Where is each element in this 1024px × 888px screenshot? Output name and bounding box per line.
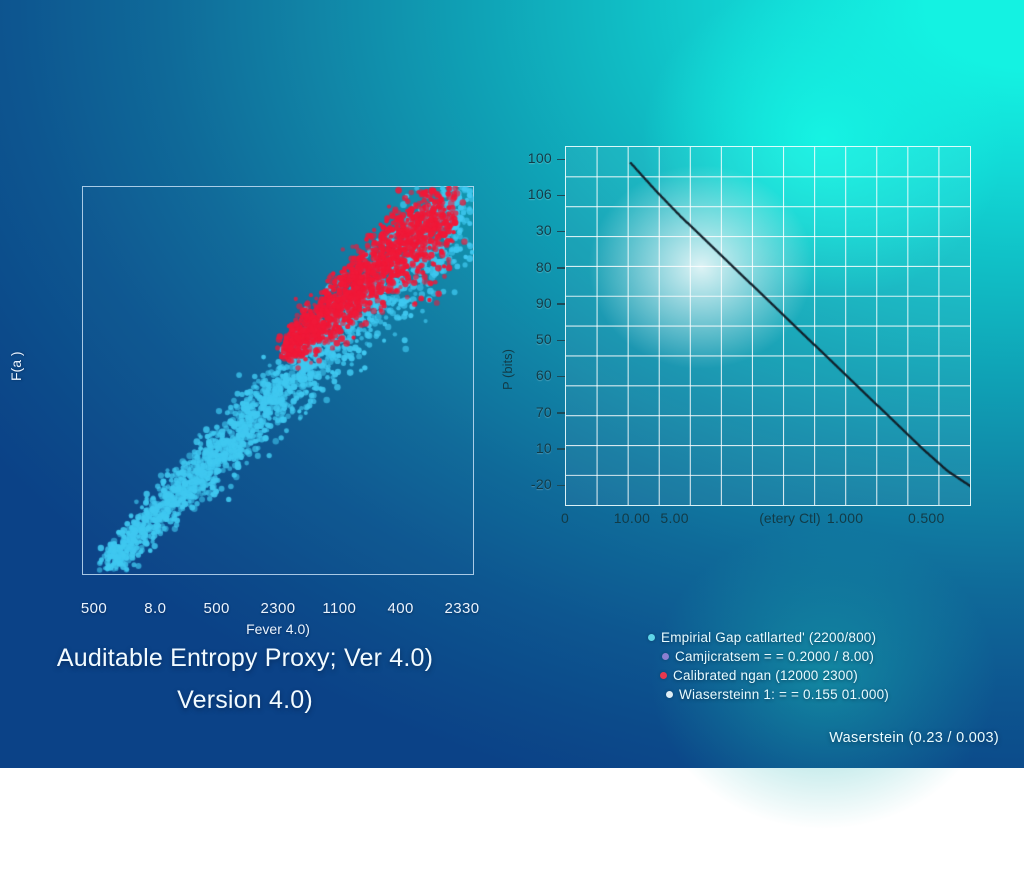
- left-x-tick-label: 500: [81, 600, 107, 617]
- legend-item[interactable]: Calibrated ngan (12000 2300): [660, 668, 889, 683]
- right-y-tick-label: 50: [536, 331, 565, 347]
- right-y-tick-label: 100: [528, 150, 565, 166]
- legend-item-label: Camjicratsem = = 0.2000 / 8.00): [675, 649, 874, 664]
- right-x-tick-label: 0: [561, 510, 569, 526]
- legend-marker-dot: [666, 691, 673, 698]
- left-y-axis-label: F(a ): [8, 351, 24, 381]
- left-x-tick-label: 1100: [322, 600, 356, 617]
- right-y-tick-label: 80: [536, 259, 565, 275]
- right-y-axis-label: P (bits): [500, 349, 515, 390]
- right-x-tick-label: 10.00: [614, 510, 651, 526]
- scatter-plot-canvas: [82, 186, 474, 575]
- left-x-tick-label: 8.0: [144, 600, 166, 617]
- legend: Empirial Gap catllarted' (2200/800)Camji…: [648, 630, 889, 706]
- legend-marker-dot: [648, 634, 655, 641]
- chart-title-main: Auditable Entropy Proxy; Ver 4.0): [45, 644, 445, 673]
- legend-item[interactable]: Camjicratsem = = 0.2000 / 8.00): [662, 649, 889, 664]
- legend-item-label: Empirial Gap catllarted' (2200/800): [661, 630, 876, 645]
- legend-item[interactable]: Empirial Gap catllarted' (2200/800): [648, 630, 889, 645]
- right-y-tick-label: 60: [536, 367, 565, 383]
- right-y-tick-label: 10: [536, 440, 565, 456]
- right-x-tick-label: 1.000: [827, 510, 864, 526]
- footer-metric: Waserstein (0.23 / 0.003): [829, 730, 999, 746]
- right-x-tick-label: 0.500: [908, 510, 945, 526]
- legend-marker-dot: [660, 672, 667, 679]
- right-curve-canvas: [566, 147, 971, 506]
- legend-item-label: Wiasersteinn 1: = = 0.155 01.000): [679, 687, 889, 702]
- legend-item-label: Calibrated ngan (12000 2300): [673, 668, 858, 683]
- right-y-tick-label: 70: [536, 404, 565, 420]
- left-x-tick-label: 2330: [445, 600, 480, 617]
- chart-title-sub: Version 4.0): [45, 686, 445, 715]
- right-x-tick-label: 5.00: [660, 510, 688, 526]
- page-background: F(a ) Fever 4.0) 5002001001500.05020-20-…: [0, 0, 1024, 768]
- legend-item[interactable]: Wiasersteinn 1: = = 0.155 01.000): [666, 687, 889, 702]
- legend-marker-dot: [662, 653, 669, 660]
- right-x-axis-label: (etery Ctl): [759, 510, 820, 526]
- right-y-tick-label: -20: [531, 476, 565, 492]
- right-y-tick-label: 90: [536, 295, 565, 311]
- left-x-tick-label: 500: [204, 600, 230, 617]
- right-y-tick-label: 106: [528, 186, 565, 202]
- right-y-tick-label: 30: [536, 222, 565, 238]
- left-x-tick-label: 400: [388, 600, 414, 617]
- right-plot-frame: [565, 146, 971, 506]
- left-x-axis-label: Fever 4.0): [246, 621, 310, 637]
- left-x-tick-label: 2300: [261, 600, 296, 617]
